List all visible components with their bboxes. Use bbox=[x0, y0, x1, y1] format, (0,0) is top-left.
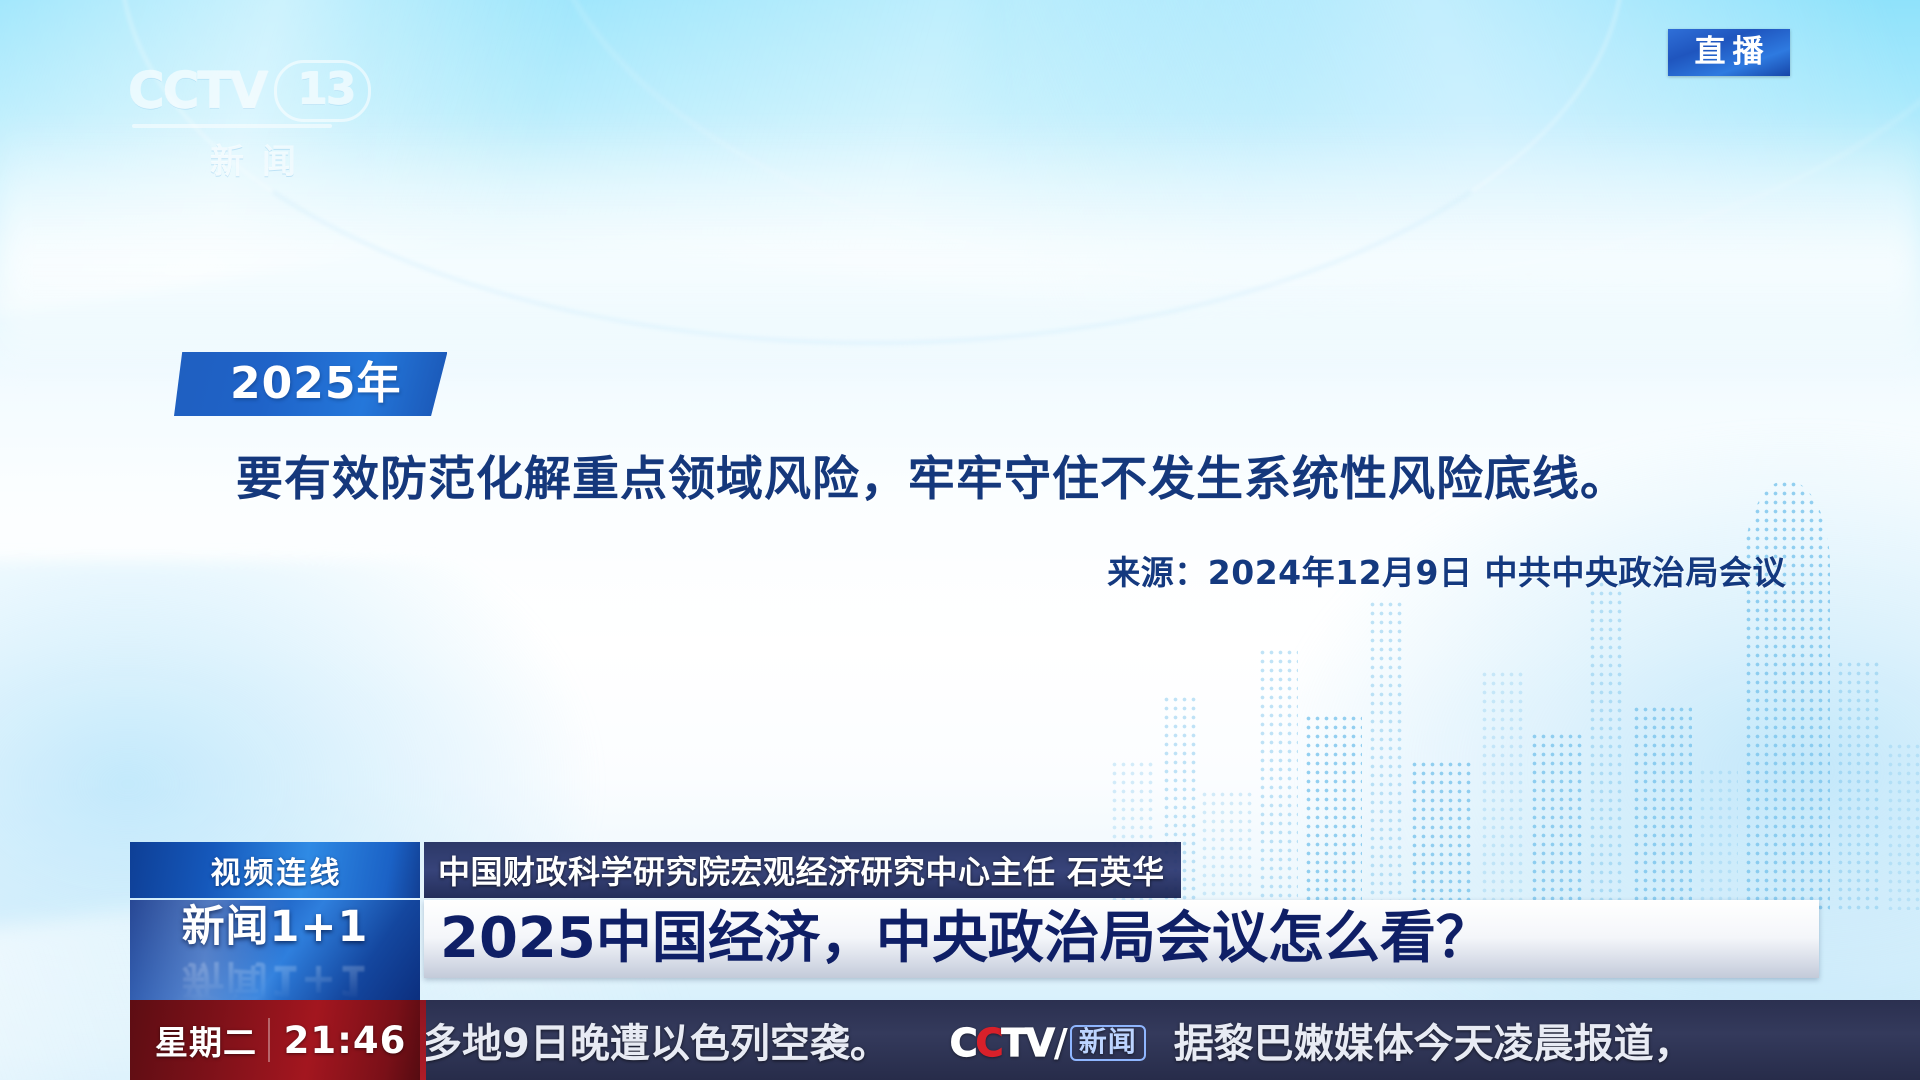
guest-title-bar: 中国财政科学研究院宏观经济研究中心主任 石英华 bbox=[424, 842, 1181, 898]
background-glow-right bbox=[1260, 420, 1920, 1080]
clock-bar: 星期二 21:46 bbox=[130, 1000, 420, 1080]
cctv-logo-tv: TV bbox=[1002, 1021, 1053, 1065]
video-link-label: 视频连线 bbox=[208, 848, 343, 892]
news-ticker: 多地9日晚遭以色列空袭。 CCTV / 新闻 据黎巴嫩媒体今天凌晨报道， bbox=[420, 1000, 1920, 1080]
cctv-news-logo-icon: CCTV / 新闻 bbox=[950, 1024, 1146, 1062]
live-badge-label: 直播 bbox=[1688, 37, 1771, 68]
cctv-logo-letters: CCTV bbox=[950, 1024, 1053, 1062]
headline-text: 2025中国经济，中央政治局会议怎么看？ bbox=[440, 911, 1492, 967]
program-logo-reflection: 新闻1+1 bbox=[130, 958, 420, 1001]
ticker-content: 多地9日晚遭以色列空袭。 CCTV / 新闻 据黎巴嫩媒体今天凌晨报道， bbox=[422, 1011, 1694, 1069]
year-banner: 2025年 bbox=[174, 352, 447, 416]
clock-weekday: 星期二 bbox=[144, 1016, 268, 1064]
year-banner-label: 2025年 bbox=[230, 362, 401, 406]
program-logo-text: 新闻1+1 bbox=[130, 906, 420, 949]
cctv-logo-slash: / bbox=[1054, 1024, 1068, 1062]
policy-quote-text: 要有效防范化解重点领域风险，牢牢守住不发生系统性风险底线。 bbox=[236, 452, 1716, 508]
ticker-left-edge bbox=[420, 1000, 426, 1080]
ticker-item-1: 多地9日晚遭以色列空袭。 bbox=[422, 1021, 890, 1067]
live-badge: 直播 bbox=[1668, 29, 1790, 76]
cctv-logo-c2: C bbox=[976, 1021, 1002, 1065]
guest-title-text: 中国财政科学研究院宏观经济研究中心主任 石英华 bbox=[438, 847, 1165, 893]
clock-time: 21:46 bbox=[270, 1019, 420, 1062]
video-link-badge: 视频连线 bbox=[130, 842, 420, 898]
ticker-item-2: 据黎巴嫩媒体今天凌晨报道， bbox=[1174, 1021, 1694, 1067]
broadcast-screen: CCTV 13 新闻 直播 2025年 要有效防范化解重点领域风险，牢牢守住不发… bbox=[0, 0, 1920, 1080]
headline-bar: 2025中国经济，中央政治局会议怎么看？ bbox=[424, 900, 1819, 978]
cctv-logo-news-label: 新闻 bbox=[1070, 1025, 1146, 1061]
policy-quote-source: 来源：2024年12月9日 中共中央政治局会议 bbox=[236, 546, 1786, 594]
cctv-logo-c1: C bbox=[950, 1021, 976, 1065]
